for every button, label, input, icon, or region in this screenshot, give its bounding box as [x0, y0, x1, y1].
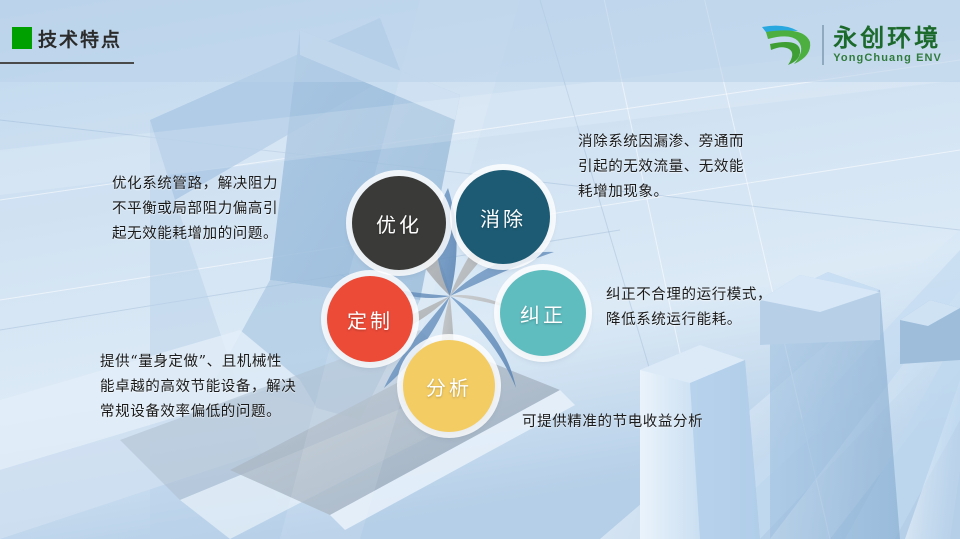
note-optimize: 优化系统管路，解决阻力 不平衡或局部阻力偏高引 起无效能耗增加的问题。 [112, 172, 357, 247]
company-logo: 永创环境 YongChuang ENV [758, 20, 942, 70]
logo-divider [822, 25, 824, 65]
node-analyze[interactable]: 分析 [403, 340, 495, 432]
note-eliminate: 消除系统因漏渗、旁通而 引起的无效流量、无效能 耗增加现象。 [578, 130, 793, 205]
logo-name-cn: 永创环境 [833, 26, 942, 50]
header-marker-icon [12, 27, 32, 49]
node-customize-label: 定制 [347, 305, 393, 334]
header-underline [0, 62, 134, 64]
node-correct-label: 纠正 [520, 299, 566, 328]
node-optimize-label: 优化 [376, 209, 422, 238]
note-customize: 提供“量身定做”、且机械性 能卓越的高效节能设备，解决 常规设备效率偏低的问题。 [100, 350, 352, 425]
logo-mark-svg [758, 22, 816, 68]
node-correct[interactable]: 纠正 [500, 270, 586, 356]
page-title: 技术特点 [38, 25, 122, 52]
node-eliminate-label: 消除 [480, 203, 526, 232]
note-analyze: 可提供精准的节电收益分析 [522, 410, 822, 435]
slide: 技术特点 永创环境 YongChuang ENV [0, 0, 960, 539]
note-correct: 纠正不合理的运行模式， 降低系统运行能耗。 [606, 283, 811, 333]
logo-name-en: YongChuang ENV [833, 53, 942, 64]
logo-swoosh-icon [758, 22, 816, 68]
node-analyze-label: 分析 [426, 372, 472, 401]
logo-wordmark: 永创环境 YongChuang ENV [833, 26, 942, 64]
node-optimize[interactable]: 优化 [352, 176, 446, 270]
node-eliminate[interactable]: 消除 [456, 170, 550, 264]
